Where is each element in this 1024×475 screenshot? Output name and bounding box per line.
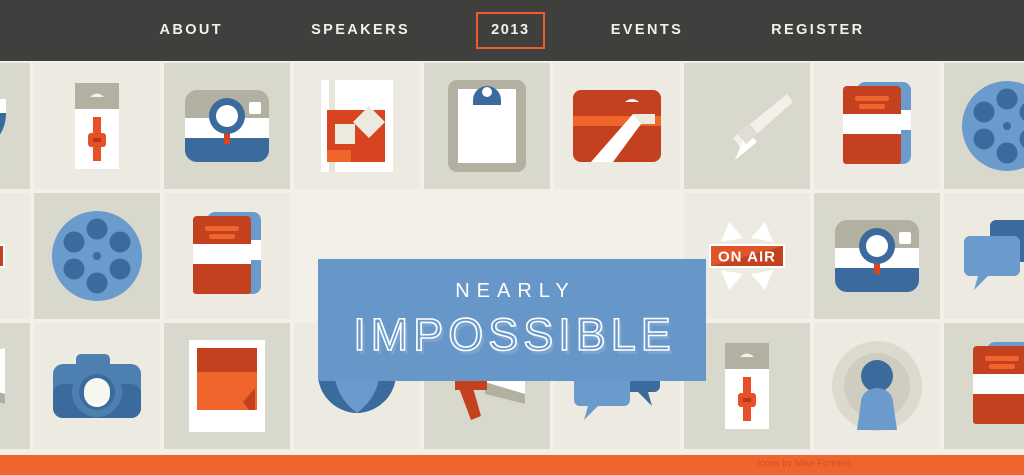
watch-package-icon: [723, 343, 771, 429]
nav-item-about[interactable]: ABOUT: [116, 23, 268, 38]
instagram-camera-icon: [833, 218, 921, 294]
top-navigation-bar: ABOUT SPEAKERS 2013 EVENTS REGISTER: [0, 0, 1024, 61]
exacto-knife-icon: [699, 88, 795, 164]
grid-tile[interactable]: [164, 63, 290, 189]
grid-tile[interactable]: [0, 323, 30, 449]
banner-line-1: NEARLY: [448, 280, 576, 303]
grid-tile[interactable]: [34, 193, 160, 319]
camera-icon: [51, 348, 143, 424]
grid-tile[interactable]: [684, 63, 810, 189]
grid-tile[interactable]: [424, 63, 550, 189]
grid-tile[interactable]: [814, 323, 940, 449]
footer-credit: Icons by Mike Fortress: [757, 458, 852, 468]
nav-item-speakers[interactable]: SPEAKERS: [267, 23, 454, 38]
grid-tile[interactable]: [814, 63, 940, 189]
megaphone-icon: [0, 346, 13, 426]
nav-item-events[interactable]: EVENTS: [567, 23, 727, 38]
notebook-icon: [839, 82, 915, 170]
grid-tile[interactable]: [294, 63, 420, 189]
icon-grid: ON AIR ON AIR: [0, 61, 1024, 455]
notebook-icon: [969, 342, 1024, 430]
grid-tile[interactable]: [164, 193, 290, 319]
nav-list: ABOUT SPEAKERS 2013 EVENTS REGISTER: [116, 12, 909, 49]
nav-item-2013[interactable]: 2013: [476, 12, 545, 49]
notebook-icon: [189, 212, 265, 300]
grid-tile[interactable]: [944, 63, 1024, 189]
ticket-card-icon: [573, 90, 661, 162]
poster-art-icon: [321, 80, 393, 172]
clipboard-icon: [448, 80, 526, 172]
instagram-camera-icon: [183, 88, 271, 164]
grid-tile[interactable]: [814, 193, 940, 319]
film-reel-icon: [50, 209, 144, 303]
grid-tile[interactable]: [0, 63, 30, 189]
nav-item-register[interactable]: REGISTER: [727, 23, 908, 38]
on-air-sign-icon: ON AIR: [693, 202, 801, 310]
grid-tile[interactable]: [944, 323, 1024, 449]
svg-text:ON AIR: ON AIR: [718, 249, 776, 266]
podcast-person-icon: [831, 340, 923, 432]
on-air-sign-icon: ON AIR: [0, 202, 21, 310]
grid-tile[interactable]: [34, 63, 160, 189]
underwear-icon: [0, 95, 10, 157]
grid-tile[interactable]: [164, 323, 290, 449]
grid-tile[interactable]: [554, 63, 680, 189]
polaroid-icon: [189, 340, 265, 432]
film-reel-icon: [960, 79, 1024, 173]
speech-bubbles-icon: [962, 218, 1024, 294]
footer-bar: Icons by Mike Fortress: [0, 455, 1024, 475]
grid-tile[interactable]: ON AIR: [0, 193, 30, 319]
watch-package-icon: [73, 83, 121, 169]
banner-line-2: IMPOSSIBLE: [348, 309, 676, 361]
grid-tile[interactable]: [34, 323, 160, 449]
hero-banner: NEARLY IMPOSSIBLE: [318, 259, 706, 381]
grid-tile[interactable]: [944, 193, 1024, 319]
